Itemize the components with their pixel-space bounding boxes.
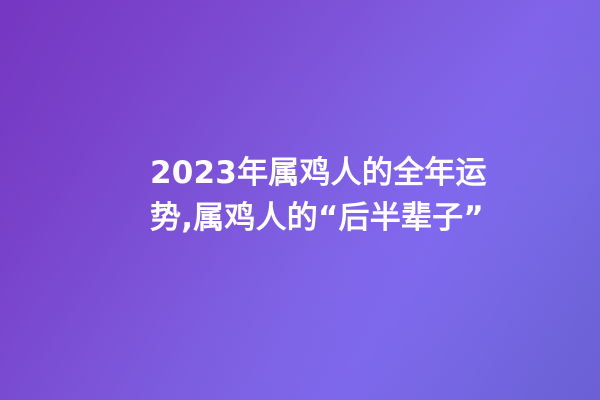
page-title: 2023年属鸡人的全年运 势,属鸡人的“后半辈子” bbox=[150, 151, 470, 241]
title-line-2: 势,属鸡人的“后半辈子” bbox=[150, 196, 470, 241]
gradient-background-card: 2023年属鸡人的全年运 势,属鸡人的“后半辈子” bbox=[0, 0, 600, 400]
title-line-1: 2023年属鸡人的全年运 bbox=[150, 151, 470, 196]
